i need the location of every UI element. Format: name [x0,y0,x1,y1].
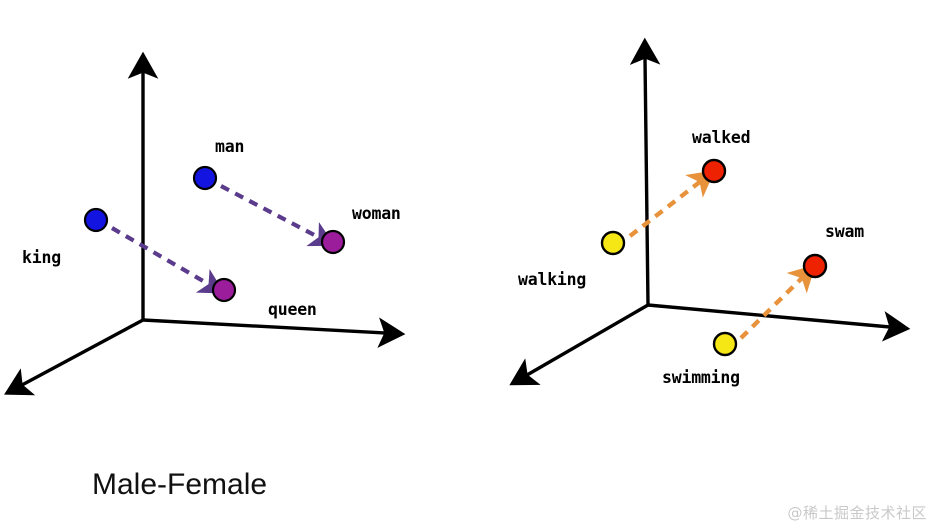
label-queen: queen [268,300,317,319]
caption-male-female: Male-Female [92,468,267,502]
label-man: man [215,137,244,156]
arrow-walking-to-walked [630,181,701,236]
label-swimming: swimming [662,368,740,387]
point-swimming[interactable] [714,333,736,355]
figure-canvas: king queen man woman Male-Female [0,0,935,527]
arrow-king-to-queen [112,228,210,285]
watermark: @稀土掘金技术社区 [787,502,927,523]
point-man[interactable] [194,167,216,189]
axis-depth [22,320,143,385]
label-walked: walked [692,128,750,147]
point-walked[interactable] [703,160,725,182]
label-swam: swam [825,222,864,241]
panel-verb-tense: walking walked swimming swam Verb tense [470,0,935,527]
label-walking: walking [518,270,586,289]
point-woman[interactable] [322,231,344,253]
point-swam[interactable] [804,255,826,277]
point-queen[interactable] [213,279,235,301]
arrow-swimming-to-swam [741,277,803,338]
axis-depth [527,305,648,375]
point-walking[interactable] [602,232,624,254]
arrow-man-to-woman [221,186,320,238]
point-king[interactable] [85,209,107,231]
axis-vertical [645,58,648,305]
axis-horizontal [143,320,385,333]
label-king: king [22,248,61,267]
panel-male-female: king queen man woman Male-Female [0,0,470,527]
label-woman: woman [352,204,401,223]
